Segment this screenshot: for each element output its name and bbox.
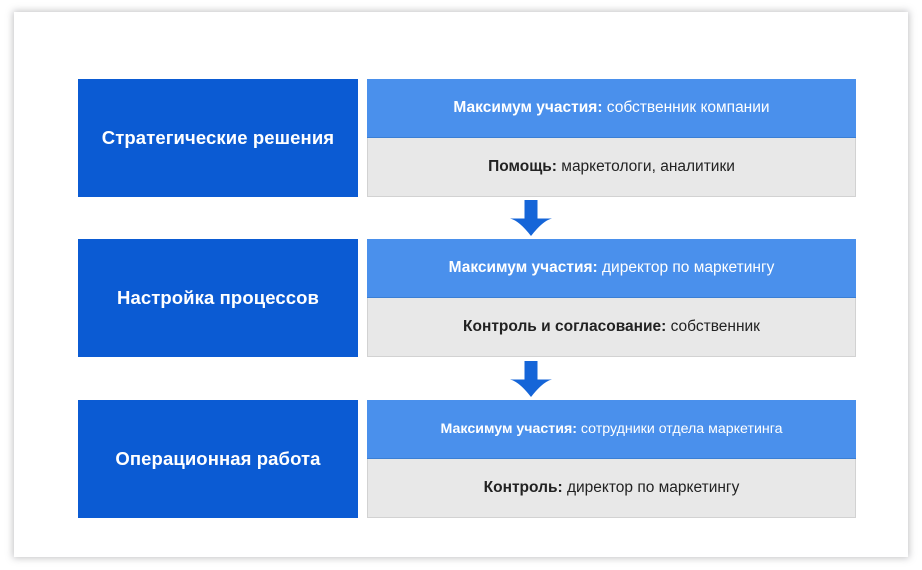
stage-panel: Максимум участия: директор по маркетингу… — [367, 239, 856, 357]
spacer — [358, 400, 367, 518]
row-value: собственник — [671, 318, 760, 336]
row-key: Помощь: — [488, 158, 557, 176]
panel-row-secondary: Контроль и согласование: собственник — [367, 298, 856, 357]
flow-diagram: Стратегические решения Максимум участия:… — [78, 67, 858, 512]
panel-row-primary: Максимум участия: сотрудники отдела марк… — [367, 400, 856, 459]
stage-row: Стратегические решения Максимум участия:… — [78, 79, 856, 197]
row-key: Максимум участия: — [449, 259, 598, 277]
panel-row-primary: Максимум участия: собственник компании — [367, 79, 856, 138]
spacer — [358, 79, 367, 197]
stage-panel: Максимум участия: собственник компании П… — [367, 79, 856, 197]
stage-label-process-setup: Настройка процессов — [78, 239, 358, 357]
panel-row-secondary: Помощь: маркетологи, аналитики — [367, 138, 856, 197]
stage-label-operational: Операционная работа — [78, 400, 358, 518]
arrow-down-icon — [507, 359, 555, 399]
row-key: Контроль: — [484, 479, 563, 497]
stage-row: Операционная работа Максимум участия: со… — [78, 400, 856, 518]
stage-row: Настройка процессов Максимум участия: ди… — [78, 239, 856, 357]
panel-row-secondary: Контроль: директор по маркетингу — [367, 459, 856, 518]
diagram-card: Стратегические решения Максимум участия:… — [14, 12, 908, 557]
arrow-down-icon — [507, 198, 555, 238]
row-key: Максимум участия: — [441, 421, 577, 437]
stage-label-strategic: Стратегические решения — [78, 79, 358, 197]
panel-row-primary: Максимум участия: директор по маркетингу — [367, 239, 856, 298]
spacer — [358, 239, 367, 357]
row-value: сотрудники отдела маркетинга — [581, 421, 783, 437]
row-key: Контроль и согласование: — [463, 318, 666, 336]
row-value: маркетологи, аналитики — [561, 158, 735, 176]
row-value: директор по маркетингу — [602, 259, 774, 277]
row-key: Максимум участия: — [453, 99, 602, 117]
stage-panel: Максимум участия: сотрудники отдела марк… — [367, 400, 856, 518]
row-value: директор по маркетингу — [567, 479, 739, 497]
row-value: собственник компании — [607, 99, 770, 117]
